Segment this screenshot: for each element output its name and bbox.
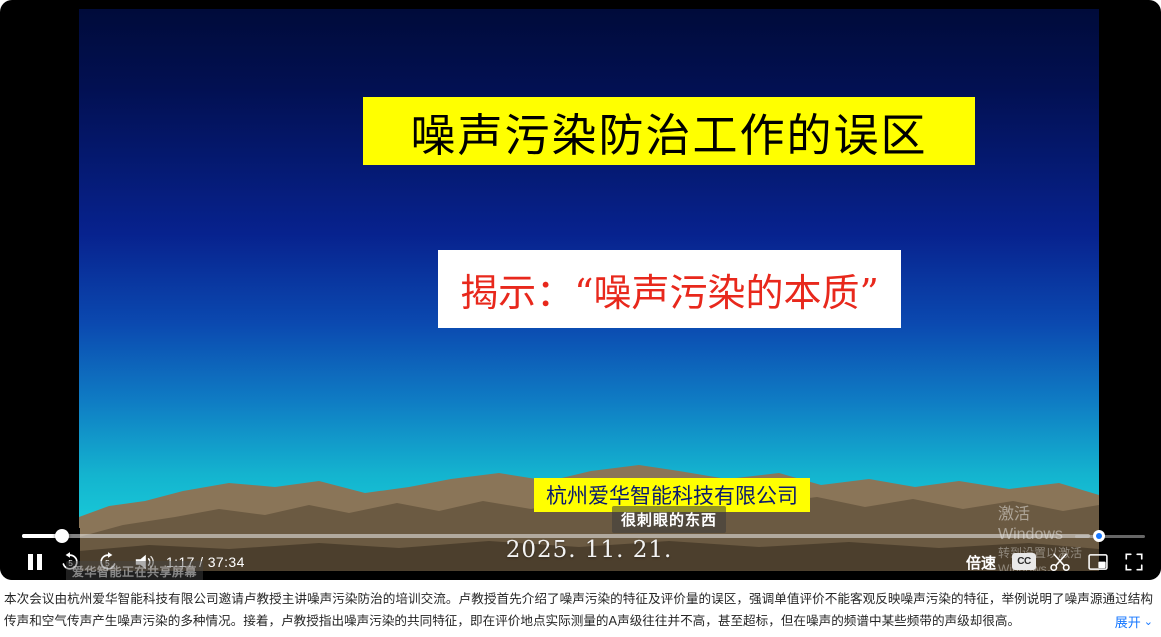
- video-player[interactable]: 噪声污染防治工作的误区 揭示：“噪声污染的本质” 杭州爱华智能科技有限公司 很刺…: [0, 0, 1161, 580]
- progress-handle[interactable]: [55, 529, 69, 543]
- video-frame[interactable]: 噪声污染防治工作的误区 揭示：“噪声污染的本质” 杭州爱华智能科技有限公司 很刺…: [79, 9, 1099, 571]
- expand-transcript-button[interactable]: 展开 ⌄: [1099, 612, 1153, 631]
- time-display: 1:17 / 37:34: [166, 544, 245, 580]
- scissors-icon: [1049, 551, 1071, 573]
- player-control-bar[interactable]: 5 5: [0, 528, 1161, 580]
- slide-subtitle-box: 揭示：“噪声污染的本质”: [438, 250, 901, 328]
- rewind-5-icon: 5: [59, 551, 81, 573]
- forward-5-button[interactable]: 5: [94, 544, 122, 580]
- pause-button[interactable]: [20, 544, 50, 580]
- control-buttons-row: 5 5: [0, 544, 1161, 580]
- picture-in-picture-button[interactable]: [1084, 544, 1112, 580]
- volume-icon: [133, 552, 155, 572]
- pause-icon: [27, 553, 43, 571]
- transcript-panel: 本次会议由杭州爱华智能科技有限公司邀请卢教授主讲噪声污染防治的培训交流。卢教授首…: [0, 582, 1161, 637]
- svg-text:5: 5: [68, 559, 73, 568]
- rewind-5-button[interactable]: 5: [56, 544, 84, 580]
- expand-transcript-label: 展开: [1115, 612, 1141, 631]
- slide-title: 噪声污染防治工作的误区: [410, 99, 927, 164]
- progress-row[interactable]: [0, 528, 1161, 544]
- closed-captions-button[interactable]: CC: [1012, 553, 1036, 570]
- slide-title-box: 噪声污染防治工作的误区: [363, 97, 975, 165]
- chevron-down-icon: ⌄: [1144, 615, 1153, 628]
- page-root: 噪声污染防治工作的误区 揭示：“噪声污染的本质” 杭州爱华智能科技有限公司 很刺…: [0, 0, 1161, 637]
- fullscreen-icon: [1124, 552, 1144, 572]
- playback-speed-button[interactable]: 倍速: [966, 544, 996, 580]
- picture-in-picture-icon: [1087, 552, 1109, 572]
- volume-button[interactable]: [130, 544, 158, 580]
- clip-button[interactable]: [1046, 544, 1074, 580]
- slide-subtitle: 揭示：“噪声污染的本质”: [460, 262, 879, 317]
- transcript-text: 本次会议由杭州爱华智能科技有限公司邀请卢教授主讲噪声污染防治的培训交流。卢教授首…: [4, 588, 1153, 632]
- svg-text:5: 5: [105, 559, 110, 568]
- fullscreen-button[interactable]: [1120, 544, 1148, 580]
- volume-slider-handle[interactable]: [1093, 530, 1105, 542]
- forward-5-icon: 5: [97, 551, 119, 573]
- progress-track[interactable]: [22, 534, 1090, 538]
